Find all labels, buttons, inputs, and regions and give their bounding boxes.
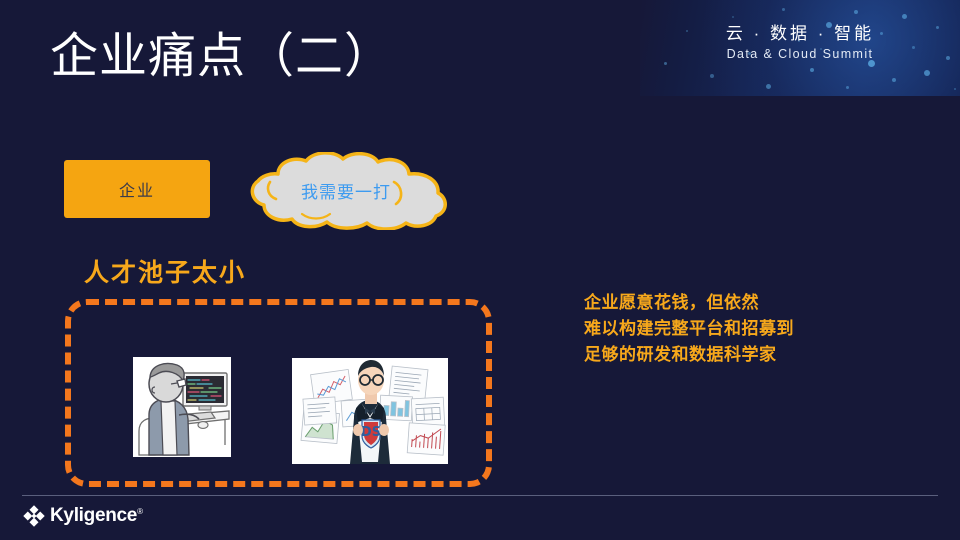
- talent-headline: 人才池子太小: [84, 253, 246, 289]
- presentation-slide: 云 · 数据 · 智能 Data & Cloud Summit 企业痛点（二） …: [0, 0, 960, 540]
- programmer-illustration: [133, 357, 231, 457]
- page-title: 企业痛点（二）: [50, 28, 393, 86]
- speech-cloud-bubble: 我需要一打: [236, 152, 456, 230]
- kyligence-logo: Kyligence ®: [22, 504, 143, 528]
- footer-divider: [22, 495, 938, 496]
- pain-point-line: 企业愿意花钱，但依然: [584, 290, 794, 316]
- speech-cloud-text: 我需要一打: [236, 178, 456, 203]
- programmer-at-desk-image: [133, 357, 231, 457]
- summit-banner: 云 · 数据 · 智能 Data & Cloud Summit: [640, 0, 960, 96]
- pain-point-line: 难以构建完整平台和招募到: [584, 316, 794, 342]
- data-scientist-superhero-image: DS: [292, 358, 448, 464]
- pain-point-text: 企业愿意花钱，但依然 难以构建完整平台和招募到 足够的研发和数据科学家: [584, 290, 794, 368]
- enterprise-button-label: 企业: [119, 177, 155, 201]
- banner-particles: [640, 0, 960, 96]
- pain-point-line: 足够的研发和数据科学家: [584, 342, 794, 368]
- data-scientist-illustration: DS: [292, 358, 448, 464]
- svg-text:DS: DS: [361, 425, 381, 440]
- kyligence-diamond-icon: [22, 504, 46, 528]
- kyligence-trademark: ®: [137, 507, 143, 517]
- kyligence-wordmark: Kyligence: [50, 504, 137, 528]
- enterprise-button[interactable]: 企业: [64, 160, 210, 218]
